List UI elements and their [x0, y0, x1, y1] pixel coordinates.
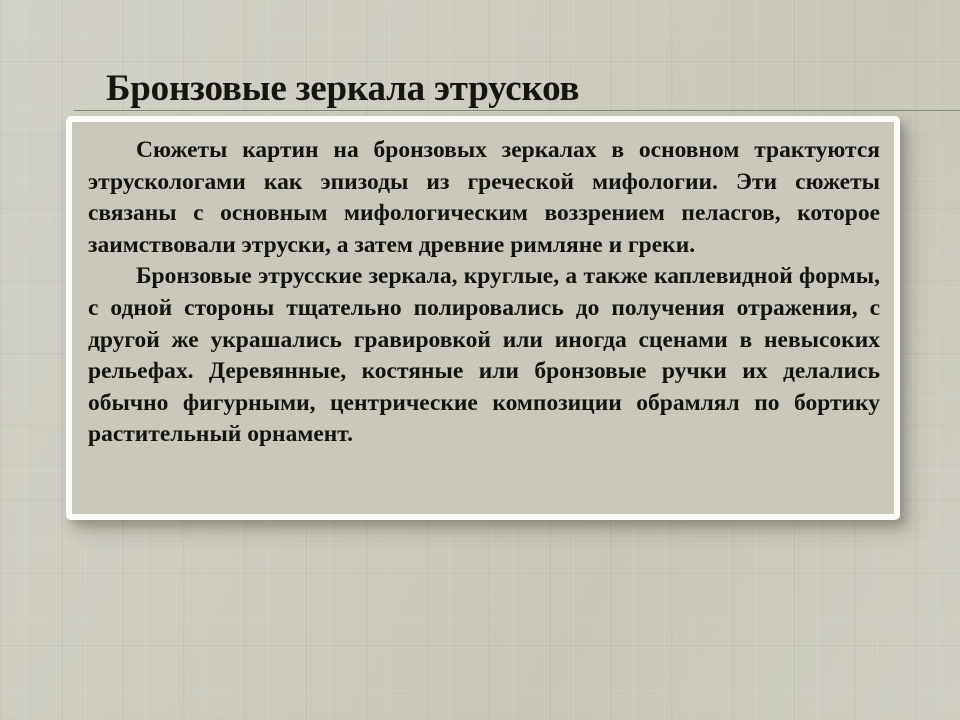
body-paragraph-2: Бронзовые этрусские зеркала, круглые, а …	[88, 261, 880, 451]
title-divider	[74, 110, 960, 111]
body-paragraph-1: Сюжеты картин на бронзовых зеркалах в ос…	[88, 135, 880, 261]
content-text-box-inner: Сюжеты картин на бронзовых зеркалах в ос…	[72, 122, 894, 514]
presentation-slide: Бронзовые зеркала этрусков Сюжеты картин…	[0, 0, 960, 720]
content-text-box: Сюжеты картин на бронзовых зеркалах в ос…	[66, 116, 900, 520]
page-title: Бронзовые зеркала этрусков	[106, 63, 906, 115]
